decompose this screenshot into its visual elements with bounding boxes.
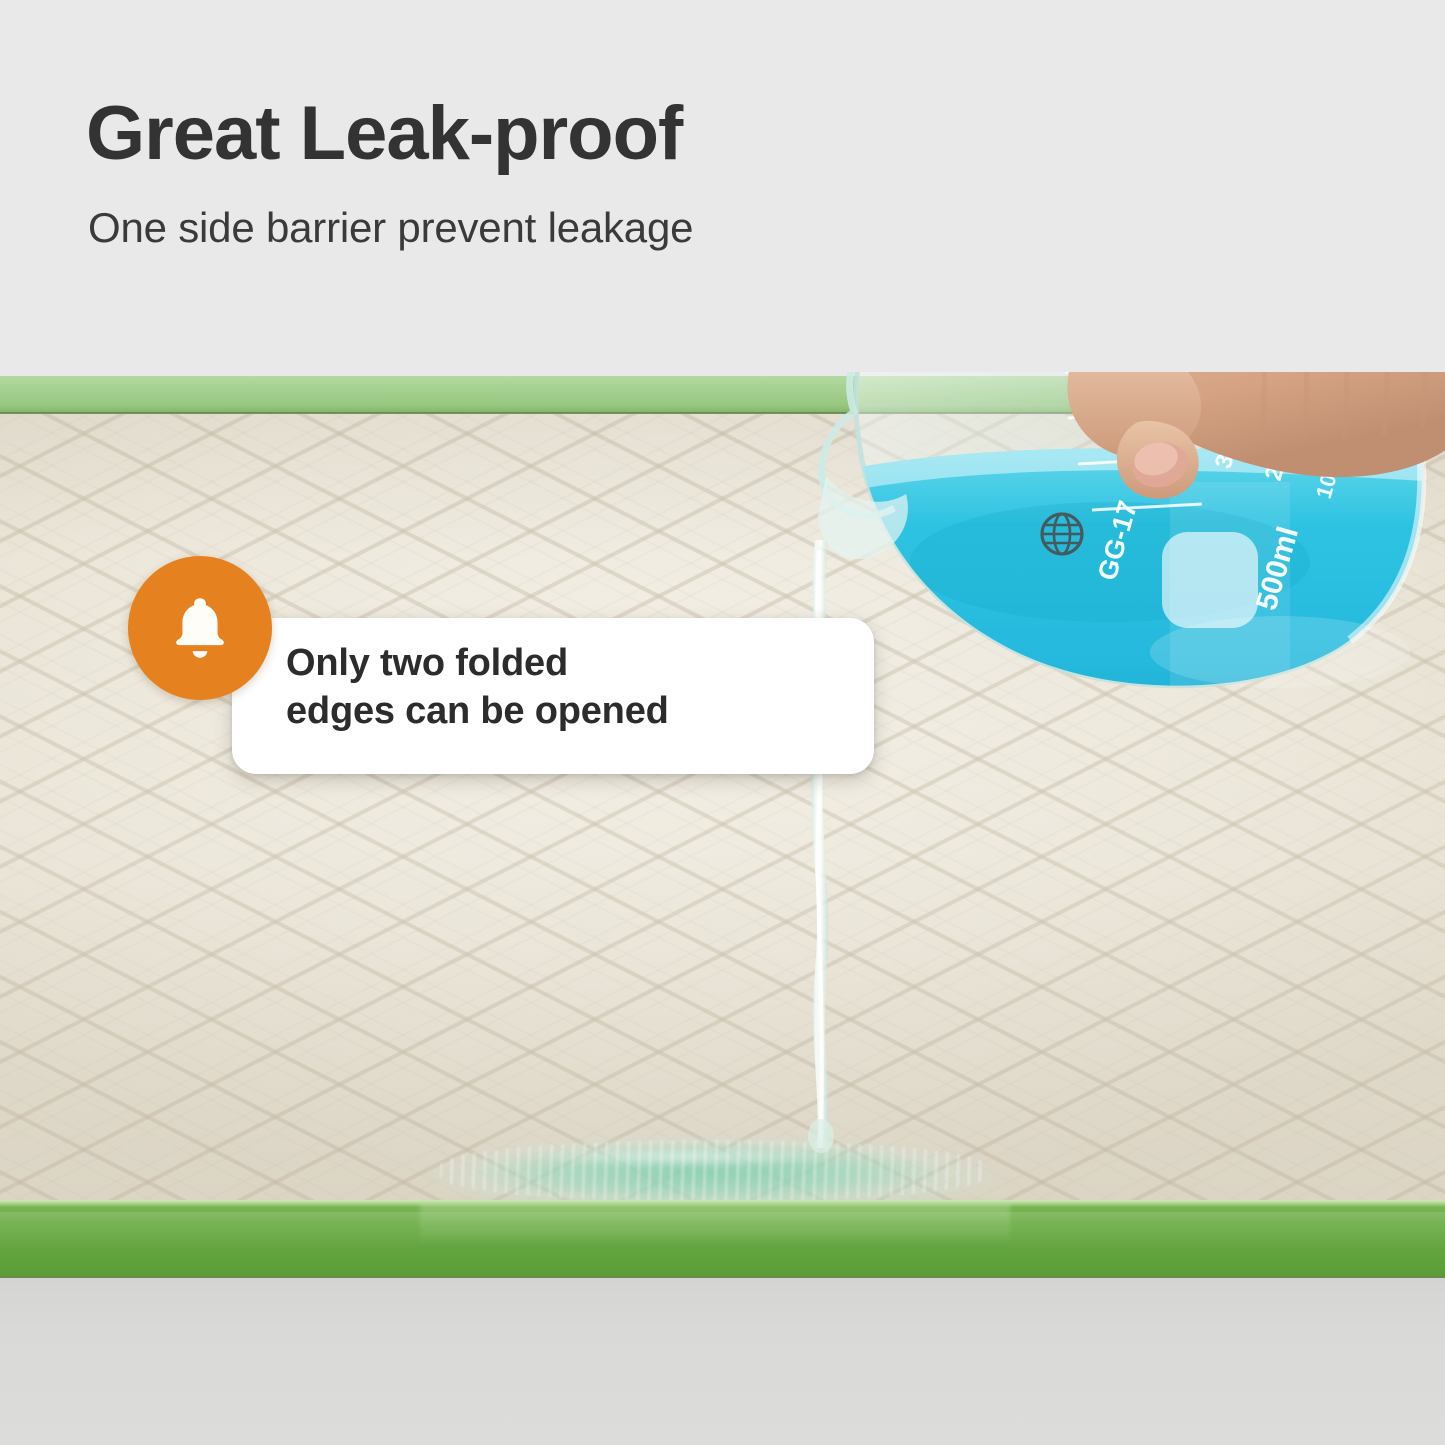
hand: [940, 372, 1445, 627]
page-title: Great Leak-proof: [86, 96, 682, 172]
product-photo: 500 APPROX 300 200 100 GG-17 500ml: [0, 372, 1445, 1288]
background-top: [0, 0, 1445, 395]
callout-text: Only two folded edges can be opened: [286, 640, 886, 736]
callout-text-line2: edges can be opened: [286, 688, 886, 736]
callout-badge: [128, 556, 272, 700]
background-bottom: [0, 1278, 1445, 1445]
product-marketing-image: 500 APPROX 300 200 100 GG-17 500ml: [0, 0, 1445, 1445]
page-subtitle: One side barrier prevent leakage: [88, 204, 693, 252]
mat-barrier-bottom-wet: [420, 1200, 1010, 1246]
callout-text-line1: Only two folded: [286, 640, 886, 688]
feature-callout: Only two folded edges can be opened: [128, 556, 768, 786]
bell-icon: [164, 592, 236, 664]
